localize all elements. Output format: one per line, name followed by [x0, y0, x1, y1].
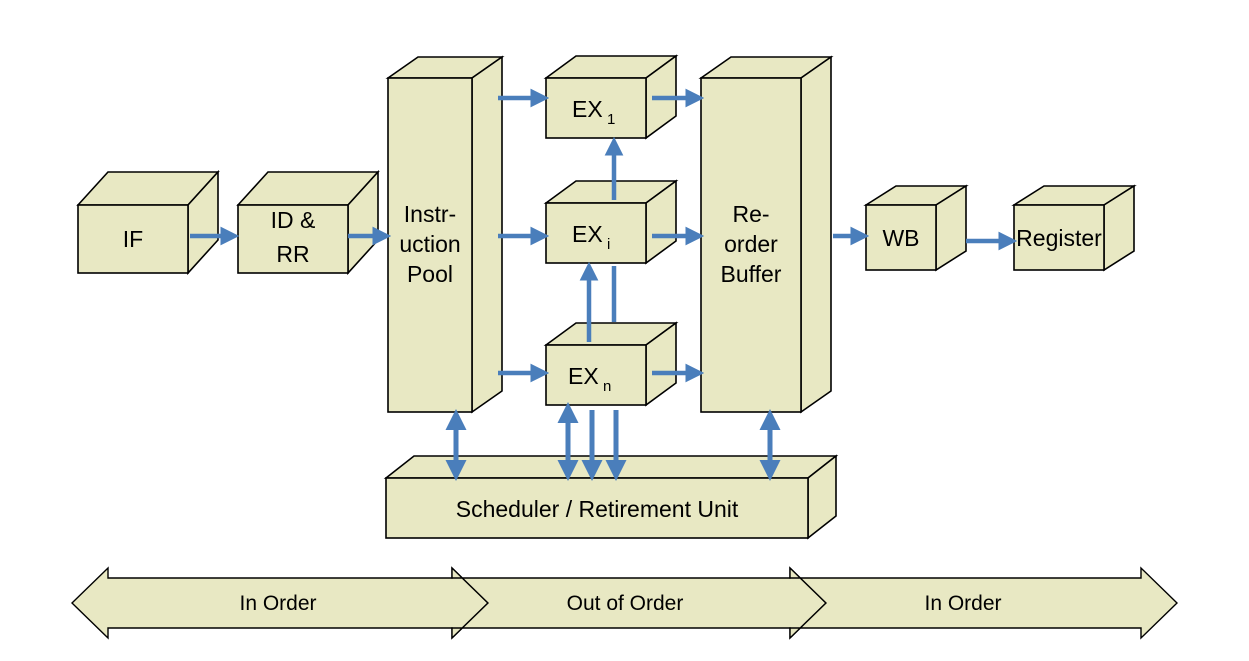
- ex-i-label: EX: [572, 221, 603, 247]
- stage-box-if: IF: [78, 172, 218, 273]
- ex-1-label-subscript: 1: [607, 111, 615, 128]
- ex-1-label: EX: [572, 96, 603, 122]
- instruction-pool-label-line3: Pool: [407, 261, 453, 287]
- reorder-buffer-label-line2: order: [724, 231, 778, 257]
- stage-box-register: Register: [1014, 186, 1134, 270]
- stage-box-wb: WB: [866, 186, 966, 270]
- stage-box-instruction-pool: Instr- uction Pool: [388, 57, 502, 412]
- if-label: IF: [123, 226, 143, 252]
- band-in-order-front-label: In Order: [239, 592, 316, 615]
- reorder-buffer-label-line3: Buffer: [721, 261, 782, 287]
- wb-label: WB: [882, 225, 919, 251]
- reorder-buffer-label-line1: Re-: [732, 201, 769, 227]
- reorder-buffer-box-side-face: [801, 57, 831, 412]
- ex-i-label-subscript: i: [607, 236, 610, 253]
- band-out-of-order-label: Out of Order: [567, 592, 684, 615]
- pipeline-diagram: IF ID & RR Instr- uction Pool EX 1: [0, 0, 1249, 661]
- order-bands: In Order Out of Order In Order: [72, 568, 1177, 638]
- stage-box-id-rr: ID & RR: [238, 172, 378, 273]
- connector-arrows: [190, 98, 1010, 473]
- instruction-pool-label-line1: Instr-: [404, 201, 456, 227]
- stage-box-ex-i: EX i: [546, 181, 676, 263]
- scheduler-label: Scheduler / Retirement Unit: [456, 496, 739, 522]
- instruction-pool-label-line2: uction: [399, 231, 460, 257]
- stage-box-ex-n: EX n: [546, 323, 676, 405]
- stage-box-reorder-buffer: Re- order Buffer: [701, 57, 831, 412]
- id-rr-label-line1: ID &: [271, 207, 316, 233]
- register-label: Register: [1016, 225, 1102, 251]
- ex-n-label: EX: [568, 363, 599, 389]
- ex-n-label-subscript: n: [603, 378, 611, 395]
- instruction-pool-box-side-face: [472, 57, 502, 412]
- diagram-canvas: IF ID & RR Instr- uction Pool EX 1: [0, 0, 1249, 661]
- band-in-order-back-label: In Order: [924, 592, 1001, 615]
- id-rr-label-line2: RR: [276, 241, 309, 267]
